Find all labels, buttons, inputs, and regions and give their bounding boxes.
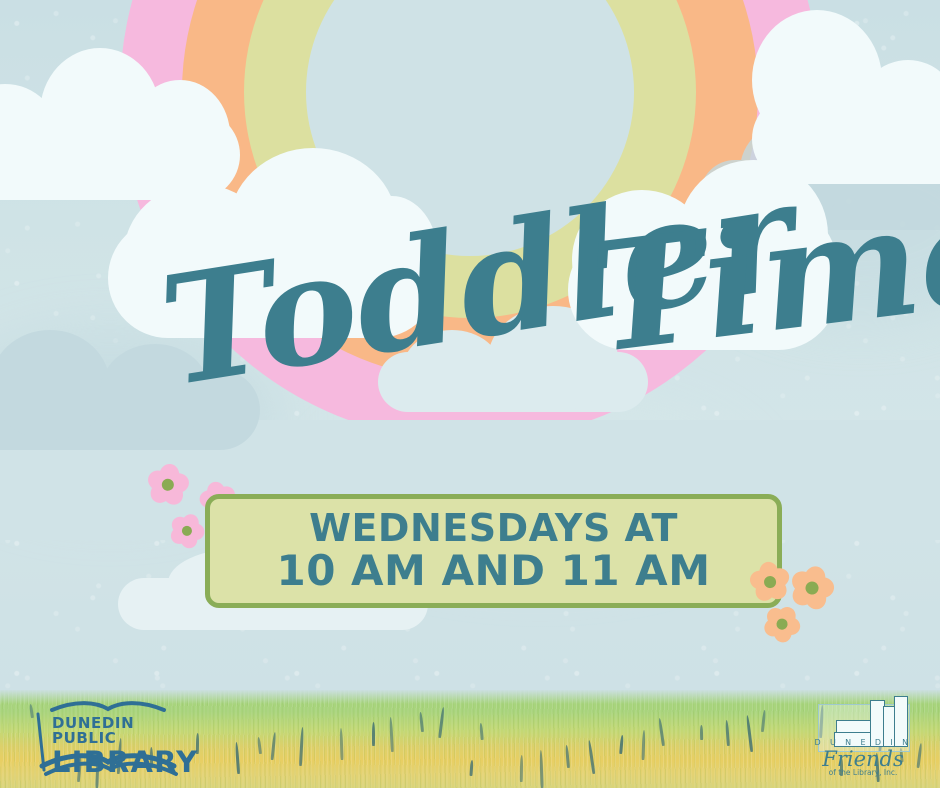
schedule-line-1: WEDNESDAYS AT: [309, 509, 678, 548]
friends-of-the-library-logo: D U N E D I N Friends of the Library, In…: [808, 690, 918, 778]
toddler-time-poster: Toddler Time WEDNESDAYS AT 10 AM AND 11 …: [0, 0, 940, 788]
grass-blade: [520, 755, 523, 782]
library-logo-line-2: LIBRARY: [52, 748, 198, 777]
friends-logo-subtitle: of the Library, Inc.: [808, 768, 918, 777]
schedule-line-2: 10 AM AND 11 AM: [276, 550, 710, 593]
library-logo-line-1: DUNEDIN PUBLIC: [52, 716, 198, 746]
schedule-banner: WEDNESDAYS AT 10 AM AND 11 AM: [205, 494, 782, 608]
grass-blade: [372, 722, 375, 746]
friends-logo-dunedin: D U N E D I N: [808, 738, 918, 747]
flower-pink-1: [142, 459, 194, 511]
grass-blade: [700, 725, 703, 740]
dunedin-public-library-logo: DUNEDIN PUBLIC LIBRARY: [16, 698, 196, 780]
cloud-topright: [752, 4, 940, 184]
library-logo-text: DUNEDIN PUBLIC LIBRARY: [52, 716, 198, 777]
